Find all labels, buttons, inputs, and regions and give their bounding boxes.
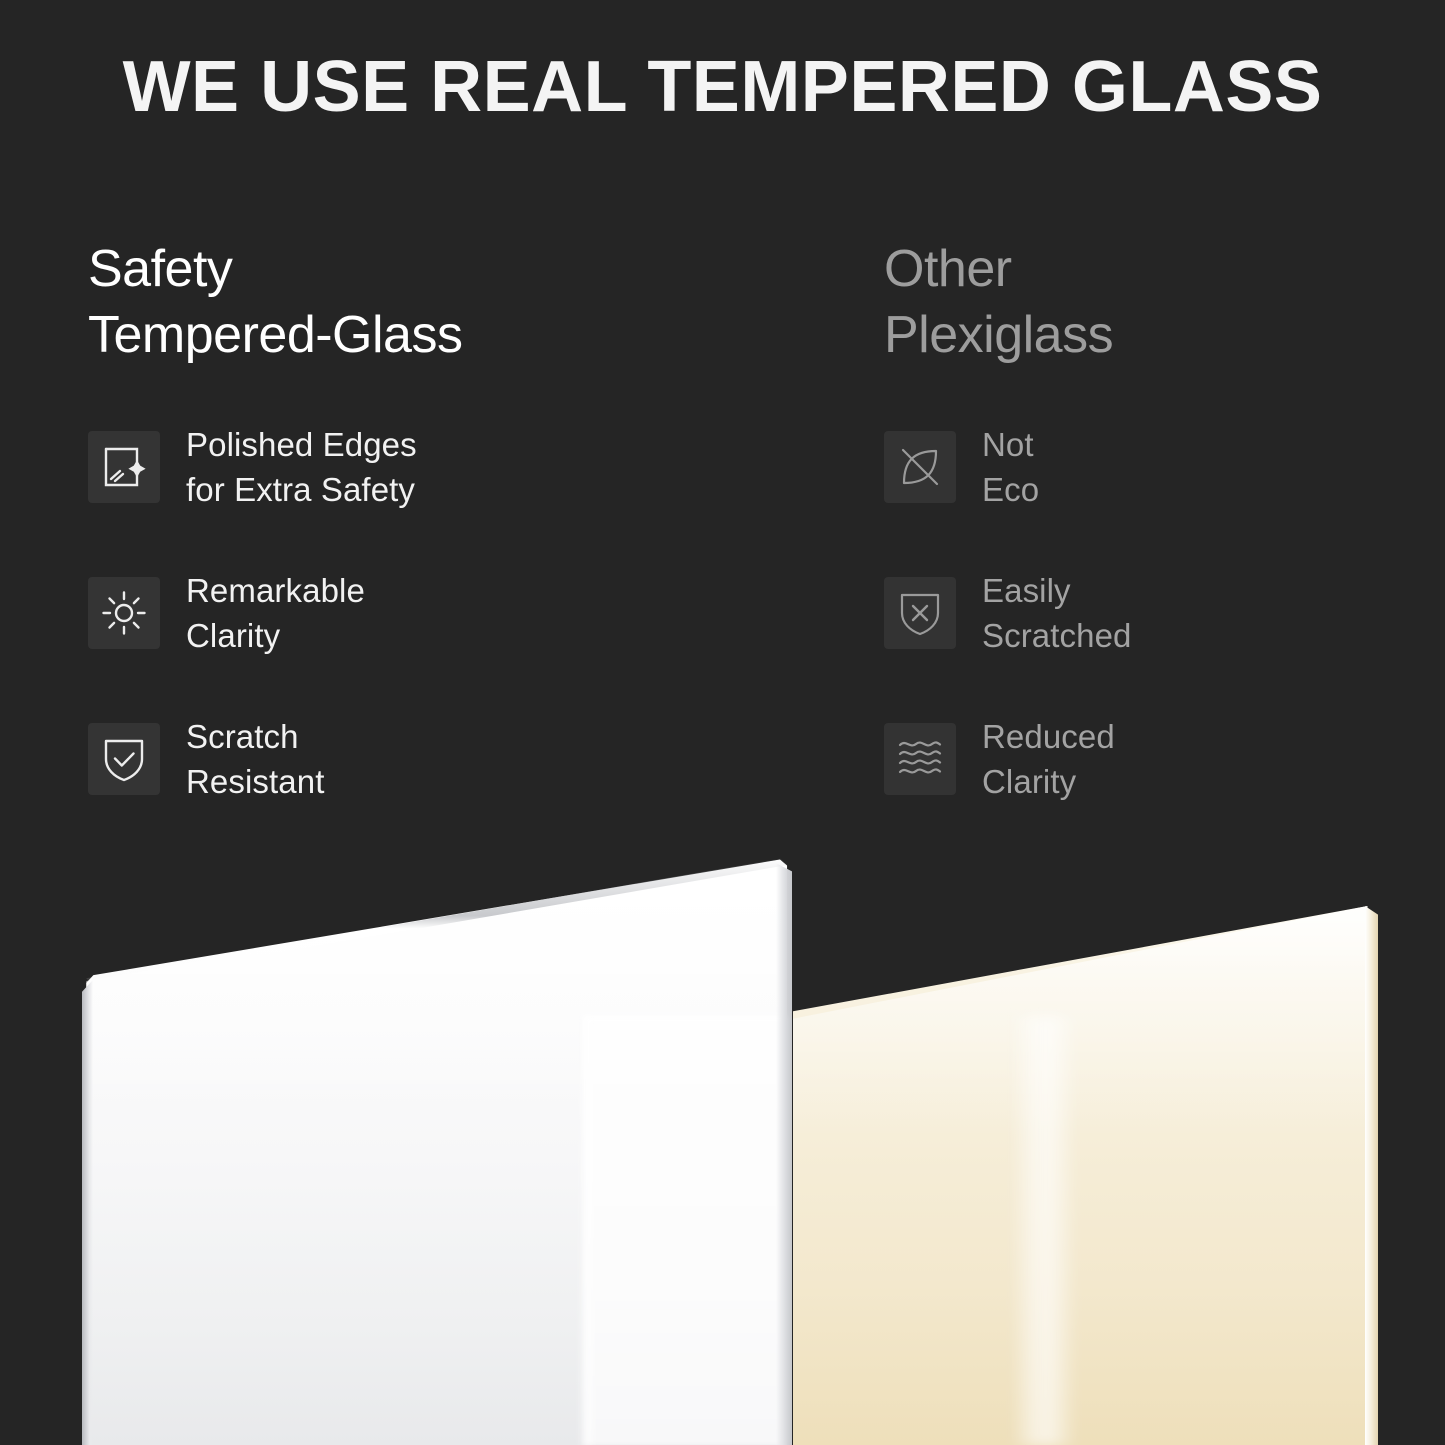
tempered-left-edge [82,856,93,1445]
plexiglass-reflection-streak [1011,1016,1077,1445]
plexiglass-top-highlight [793,906,1378,1136]
feature-label: Remarkable Clarity [186,568,365,658]
feature-item: Scratch Resistant [88,714,808,804]
sun-clarity-icon [88,577,160,649]
column-other-plexiglass: Other Plexiglass Not Eco [884,236,1404,804]
plexiglass-edge [1365,906,1378,1445]
feature-list-left: Polished Edges for Extra Safety [88,422,808,804]
feature-label: Polished Edges for Extra Safety [186,422,417,512]
wavy-lines-icon [884,723,956,795]
feature-label: Easily Scratched [982,568,1131,658]
tempered-reflection-edge [578,1014,592,1445]
feature-list-right: Not Eco Easily Scratched [884,422,1404,804]
plexiglass-panel [793,906,1378,1445]
shield-check-icon [88,723,160,795]
polished-glass-pane-sparkle-icon [88,431,160,503]
shield-x-icon [884,577,956,649]
leaf-crossed-out-icon [884,431,956,503]
column-title-left: Safety Tempered-Glass [88,236,808,368]
feature-item: Polished Edges for Extra Safety [88,422,808,512]
tempered-reflection-rectangle [584,1016,792,1445]
feature-label: Scratch Resistant [186,714,324,804]
page-title: WE USE REAL TEMPERED GLASS [0,40,1445,134]
column-title-right: Other Plexiglass [884,236,1404,368]
product-comparison-graphic: WE USE REAL TEMPERED GLASS Safety Temper… [0,0,1445,1445]
tempered-glass-panel [82,856,792,1445]
feature-item: Not Eco [884,422,1404,512]
glass-panels-illustration [0,840,1445,1445]
column-safety-tempered-glass: Safety Tempered-Glass Polished Edges for… [88,236,808,804]
tempered-right-edge [776,856,792,1445]
feature-item: Reduced Clarity [884,714,1404,804]
feature-label: Reduced Clarity [982,714,1115,804]
feature-item: Remarkable Clarity [88,568,808,658]
feature-label: Not Eco [982,422,1039,512]
feature-item: Easily Scratched [884,568,1404,658]
